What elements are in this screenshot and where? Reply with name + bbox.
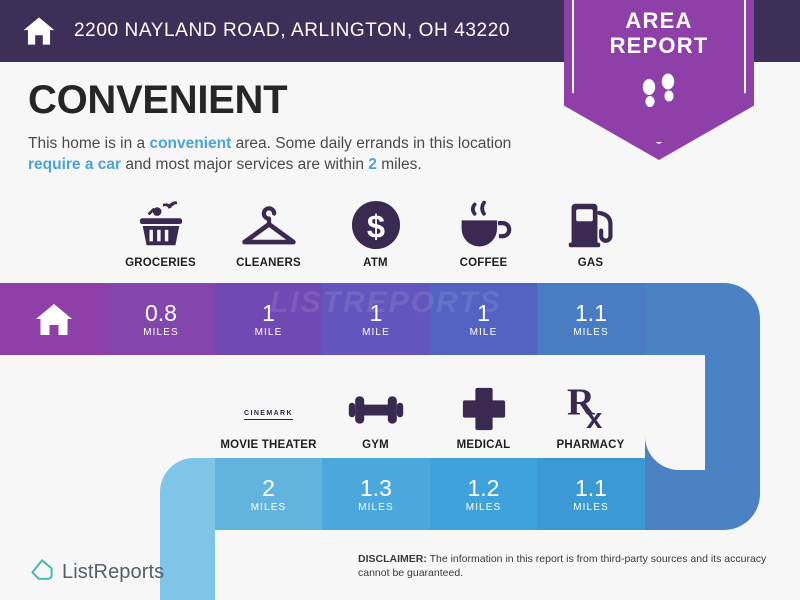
svg-text:$: $ xyxy=(366,208,384,245)
listreports-brand: ListReports xyxy=(30,558,164,587)
desc-highlight-miles: 2 xyxy=(368,156,377,173)
clothes-hanger-icon xyxy=(215,198,322,250)
amenity-label: ATM xyxy=(322,257,429,269)
distance-cell-coffee: 1 MILE xyxy=(430,283,537,355)
distance-value: 1.1 xyxy=(575,476,607,500)
amenity-atm: $ ATM xyxy=(322,198,429,269)
desc-part-2: area. Some daily errands in this locatio… xyxy=(231,135,511,152)
distance-unit: MILES xyxy=(573,327,609,338)
coffee-cup-icon xyxy=(430,198,537,250)
distance-cell-movie-theater: 2 MILES xyxy=(215,458,322,530)
desc-part-1: This home is in a xyxy=(28,135,149,152)
desc-part-3: and most major services are within xyxy=(121,156,368,173)
distance-cell-atm: 1 MILE xyxy=(322,283,430,355)
distance-value: 1.3 xyxy=(360,476,392,500)
distance-value: 2 xyxy=(262,476,275,500)
distance-cell-gas: 1.1 MILES xyxy=(537,283,645,355)
distance-cell-pharmacy: 1.1 MILES xyxy=(537,458,645,530)
page-title: CONVENIENT xyxy=(28,78,287,123)
amenity-label: COFFEE xyxy=(430,257,537,269)
amenity-label: GROCERIES xyxy=(107,257,214,269)
distance-value: 1 xyxy=(262,301,275,325)
distance-unit: MILE xyxy=(362,327,390,338)
summary-description: This home is in a convenient area. Some … xyxy=(28,133,548,175)
distance-cell-medical: 1.2 MILES xyxy=(430,458,537,530)
area-report-badge: AREA REPORT xyxy=(564,0,754,160)
distance-unit: MILE xyxy=(470,327,498,338)
desc-part-4: miles. xyxy=(377,156,422,173)
ribbon-left-column xyxy=(160,530,215,600)
dollar-circle-icon: $ xyxy=(322,198,429,250)
distance-value: 1 xyxy=(477,301,490,325)
footprints-icon xyxy=(637,72,681,114)
listreports-wordmark: ListReports xyxy=(62,561,164,584)
distance-cell-gym: 1.3 MILES xyxy=(322,458,430,530)
distance-unit: MILES xyxy=(358,502,394,513)
distance-value: 1.1 xyxy=(575,301,607,325)
distance-value: 0.8 xyxy=(145,301,177,325)
badge-title-line2: REPORT xyxy=(610,33,709,58)
distance-unit: MILES xyxy=(466,502,502,513)
infographic-canvas: 2200 NAYLAND ROAD, ARLINGTON, OH 43220 A… xyxy=(0,0,800,600)
distance-value: 1.2 xyxy=(468,476,500,500)
ribbon-elbow-bottom-left xyxy=(160,458,215,530)
distance-unit: MILE xyxy=(255,327,283,338)
distance-cell-groceries: 0.8 MILES xyxy=(107,283,215,355)
distance-value: 1 xyxy=(370,301,383,325)
badge-title-line1: AREA xyxy=(625,8,692,33)
grocery-basket-icon xyxy=(107,198,214,250)
distance-unit: MILES xyxy=(143,327,179,338)
amenity-gas: GAS xyxy=(537,198,644,269)
distance-unit: MILES xyxy=(573,502,609,513)
home-icon xyxy=(34,299,74,339)
badge-title: AREA REPORT xyxy=(564,8,754,58)
desc-highlight-convenient: convenient xyxy=(149,135,231,152)
gas-pump-icon xyxy=(537,198,644,250)
ribbon-inner-notch-left xyxy=(215,530,275,590)
home-icon xyxy=(22,14,56,48)
ribbon-elbow-top-right xyxy=(645,283,760,355)
desc-highlight-require-a-car: require a car xyxy=(28,156,121,173)
distance-unit: MILES xyxy=(251,502,287,513)
amenity-groceries: GROCERIES xyxy=(107,198,214,269)
disclaimer-label: DISCLAIMER: xyxy=(358,553,427,565)
listreports-logo-icon xyxy=(30,558,54,587)
amenity-cleaners: CLEANERS xyxy=(215,198,322,269)
ribbon-inner-notch-right xyxy=(645,355,705,470)
ribbon-home-cell xyxy=(0,283,107,355)
amenity-label: CLEANERS xyxy=(215,257,322,269)
disclaimer: DISCLAIMER: The information in this repo… xyxy=(358,552,778,580)
amenity-label: GAS xyxy=(537,257,644,269)
amenity-icon-row-top: GROCERIES CLEANERS $ ATM xyxy=(0,198,800,280)
amenity-coffee: COFFEE xyxy=(430,198,537,269)
distance-cell-cleaners: 1 MILE xyxy=(215,283,322,355)
property-address: 2200 NAYLAND ROAD, ARLINGTON, OH 43220 xyxy=(74,20,510,42)
